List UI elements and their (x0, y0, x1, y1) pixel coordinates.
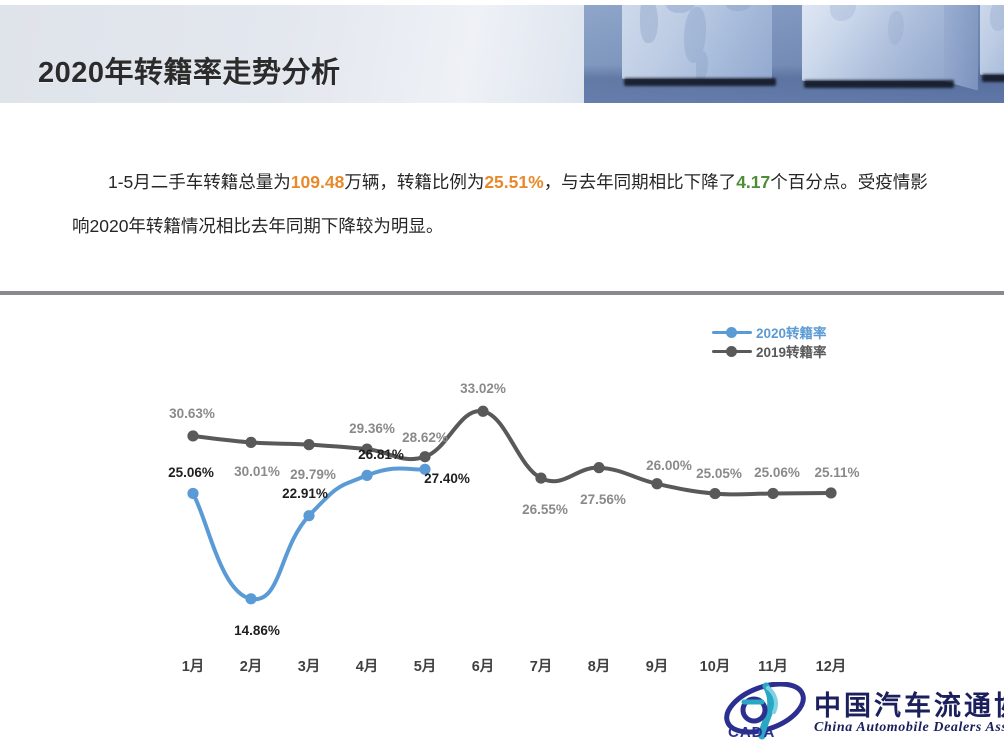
x-axis-label-6月: 6月 (472, 655, 495, 676)
banner-cube-center (802, 5, 950, 81)
legend-label-2020: 2020转籍率 (756, 322, 827, 342)
x-axis-label-11月: 11月 (758, 655, 788, 676)
data-label-2019转籍率-12月: 25.11% (814, 465, 859, 480)
data-label-2019转籍率-1月: 30.63% (169, 406, 215, 421)
data-point-marker (825, 487, 836, 498)
x-axis-label-5月: 5月 (414, 655, 437, 676)
data-label-2019转籍率-8月: 27.56% (580, 492, 626, 507)
x-axis-label-7月: 7月 (530, 655, 553, 676)
data-point-marker (535, 472, 546, 483)
paragraph-seg-4: ，与去年同期相比下降了 (544, 172, 737, 192)
summary-paragraph: 1-5月二手车转籍总量为109.48万辆，转籍比例为25.51%，与去年同期相比… (72, 160, 942, 248)
banner-cube-right (980, 5, 1004, 75)
banner-cube-left (622, 5, 772, 79)
x-axis-label-1月: 1月 (182, 655, 205, 676)
data-label-2020转籍率-3月: 22.91% (282, 486, 328, 501)
x-axis-label-3月: 3月 (298, 655, 321, 676)
legend-item-2020[interactable]: 2020转籍率 (712, 322, 827, 341)
highlight-yoy-drop: 4.17 (736, 172, 770, 192)
legend-item-2019[interactable]: 2019转籍率 (712, 341, 827, 360)
slide-header: 2020年转籍率走势分析 (0, 5, 1004, 103)
paragraph-seg-0: 1-5月二手车转籍总量为 (108, 172, 291, 192)
data-label-2020转籍率-1月: 25.06% (168, 465, 214, 480)
slide-canvas: 2020年转籍率走势分析 1-5月二手车转籍总量为109.48万辆，转籍比例为2… (0, 0, 1004, 752)
data-label-2019转籍率-2月: 30.01% (234, 464, 280, 479)
cada-logo: CADA 中国汽车流通协会 China Automobile Dealers A… (722, 680, 994, 746)
data-point-marker (767, 488, 778, 499)
data-point-marker (245, 437, 256, 448)
x-axis-label-10月: 10月 (700, 655, 731, 676)
chart-canvas (0, 300, 1004, 700)
transfer-rate-line-chart: 2020转籍率 2019转籍率 25.06%14.86%22.91%26.81%… (0, 300, 1004, 700)
highlight-total-volume: 109.48 (291, 172, 345, 192)
data-point-marker (187, 488, 198, 499)
data-point-marker (303, 439, 314, 450)
data-label-2019转籍率-11月: 25.06% (754, 465, 800, 480)
data-label-2020转籍率-4月: 26.81% (358, 447, 404, 462)
data-point-marker (187, 430, 198, 441)
data-label-2019转籍率-9月: 26.00% (646, 458, 692, 473)
data-point-marker (709, 488, 720, 499)
data-label-2019转籍率-7月: 26.55% (522, 502, 568, 517)
data-label-2020转籍率-2月: 14.86% (234, 623, 280, 638)
data-point-marker (419, 451, 430, 462)
data-label-2019转籍率-3月: 29.79% (290, 467, 336, 482)
cada-name-en: China Automobile Dealers Association (814, 720, 1004, 736)
legend-label-2019: 2019转籍率 (756, 341, 827, 361)
data-point-marker (303, 510, 314, 521)
x-axis-label-8月: 8月 (588, 655, 611, 676)
x-axis-label-2月: 2月 (240, 655, 263, 676)
data-point-marker (477, 406, 488, 417)
data-label-2019转籍率-6月: 33.02% (460, 381, 506, 396)
legend-marker-icon-2019 (712, 345, 752, 357)
data-point-marker (245, 593, 256, 604)
data-label-2019转籍率-5月: 28.62% (402, 430, 448, 445)
data-label-2019转籍率-10月: 25.05% (696, 466, 742, 481)
x-axis-label-9月: 9月 (646, 655, 669, 676)
data-point-marker (651, 478, 662, 489)
x-axis-label-12月: 12月 (816, 655, 847, 676)
data-point-marker (593, 462, 604, 473)
world-map-texture (622, 5, 772, 79)
page-title: 2020年转籍率走势分析 (38, 49, 341, 91)
cada-abbr: CADA (728, 724, 775, 741)
highlight-transfer-ratio: 25.51% (484, 172, 543, 192)
data-point-marker (361, 470, 372, 481)
x-axis-label-4月: 4月 (356, 655, 379, 676)
chart-legend: 2020转籍率 2019转籍率 (712, 322, 827, 360)
data-label-2020转籍率-5月: 27.40% (424, 471, 470, 486)
data-label-2019转籍率-4月: 29.36% (349, 421, 395, 436)
legend-marker-icon-2020 (712, 326, 752, 338)
paragraph-seg-2: 万辆，转籍比例为 (344, 172, 484, 192)
header-banner-image (584, 5, 1004, 103)
series-line-2019 (193, 411, 831, 494)
cada-name-cn: 中国汽车流通协会 (814, 684, 1004, 723)
section-divider (0, 291, 1004, 295)
